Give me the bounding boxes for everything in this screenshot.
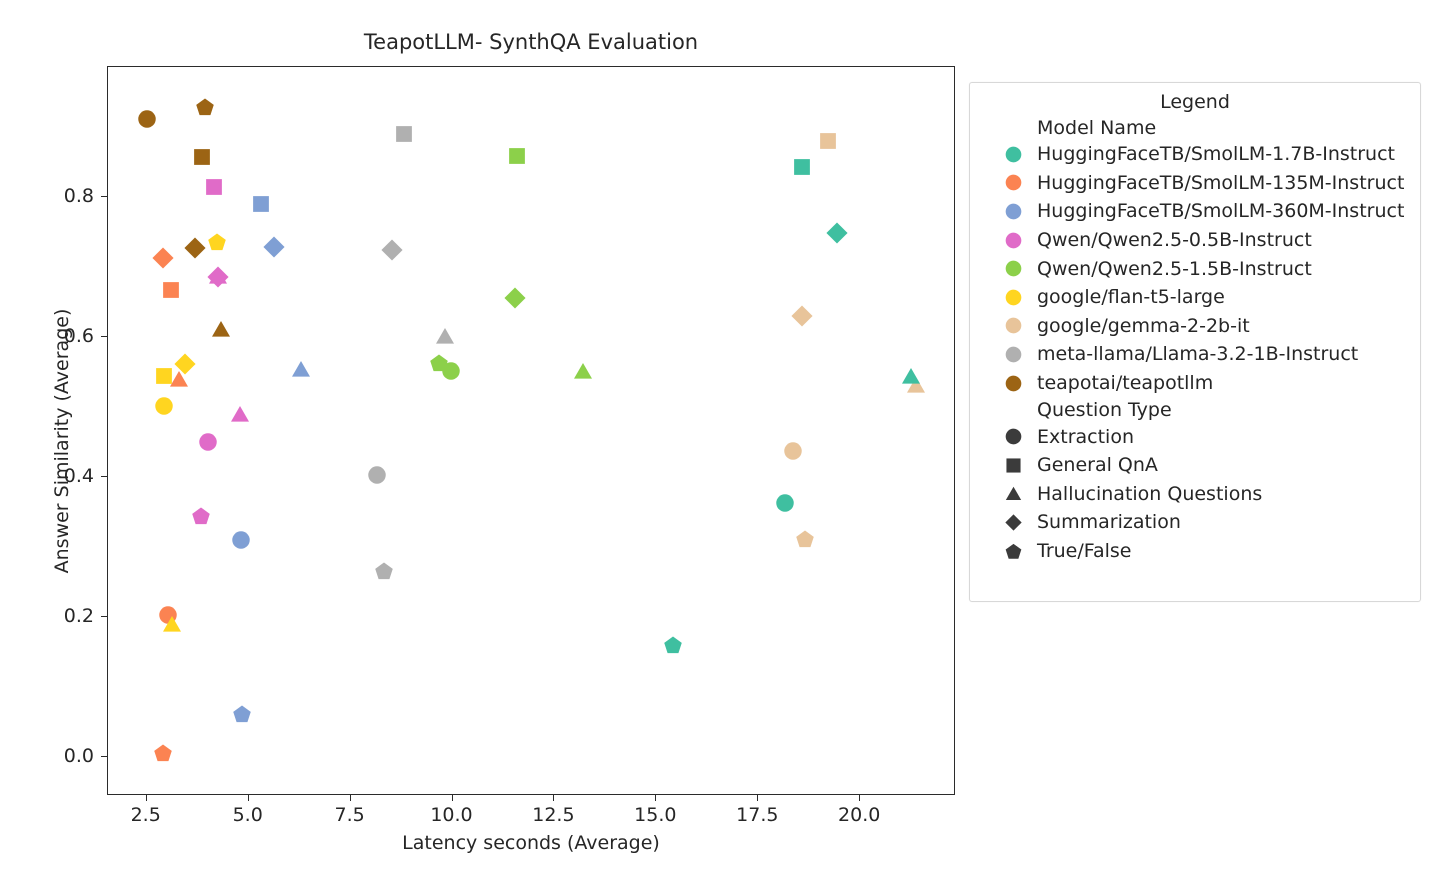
data-point	[573, 361, 593, 381]
legend-marker-diamond-icon	[996, 514, 1030, 531]
x-axis-tick	[553, 795, 554, 801]
legend-item-question-type[interactable]: Hallucination Questions	[970, 480, 1420, 509]
data-point	[193, 147, 212, 166]
legend-item-model[interactable]: teapotai/teapotllm	[970, 369, 1420, 398]
legend-marker-circle-icon	[996, 174, 1030, 191]
x-axis-tick-label: 12.5	[532, 804, 574, 826]
x-axis-tick	[757, 795, 758, 801]
data-point	[162, 280, 181, 299]
x-axis-tick	[452, 795, 453, 801]
legend-item-label: Qwen/Qwen2.5-0.5B-Instruct	[1030, 229, 1312, 251]
y-axis-tick	[101, 756, 107, 757]
legend-item-model[interactable]: HuggingFaceTB/SmolLM-360M-Instruct	[970, 197, 1420, 226]
legend-marker-circle-icon	[996, 428, 1030, 445]
data-point	[162, 614, 182, 634]
legend-marker-circle-icon	[996, 346, 1030, 363]
data-point	[207, 233, 226, 252]
x-axis-tick-label: 5.0	[233, 804, 263, 826]
legend-item-label: HuggingFaceTB/SmolLM-135M-Instruct	[1030, 172, 1404, 194]
data-point	[663, 636, 682, 655]
data-point	[174, 353, 196, 375]
legend-item-label: Qwen/Qwen2.5-1.5B-Instruct	[1030, 258, 1312, 280]
legend-item-label: HuggingFaceTB/SmolLM-360M-Instruct	[1030, 200, 1404, 222]
data-point	[199, 433, 218, 452]
data-point	[184, 237, 206, 259]
x-axis-tick-label: 2.5	[131, 804, 161, 826]
legend-model-list: HuggingFaceTB/SmolLM-1.7B-InstructHuggin…	[970, 140, 1420, 397]
legend-panel: Legend Model Name HuggingFaceTB/SmolLM-1…	[969, 82, 1421, 602]
data-point	[152, 247, 174, 269]
legend-item-label: General QnA	[1030, 454, 1158, 476]
legend-item-model[interactable]: Qwen/Qwen2.5-1.5B-Instruct	[970, 254, 1420, 283]
legend-marker-circle-icon	[996, 289, 1030, 306]
data-point	[263, 236, 285, 258]
legend-title: Legend	[970, 91, 1420, 113]
y-axis-tick	[101, 616, 107, 617]
chart-figure: TeapotLLM- SynthQA Evaluation 2.55.07.51…	[0, 0, 1439, 869]
x-axis-tick	[350, 795, 351, 801]
x-axis-label: Latency seconds (Average)	[107, 832, 955, 854]
y-axis-tick-label: 0.2	[34, 605, 94, 627]
legend-item-label: teapotai/teapotllm	[1030, 372, 1213, 394]
legend-item-question-type[interactable]: General QnA	[970, 451, 1420, 480]
legend-item-label: google/gemma-2-2b-it	[1030, 315, 1250, 337]
data-point	[775, 494, 794, 513]
data-point	[793, 157, 812, 176]
x-axis-tick	[859, 795, 860, 801]
legend-marker-circle-icon	[996, 146, 1030, 163]
data-point	[155, 367, 174, 386]
data-point	[231, 531, 250, 550]
y-axis-tick	[101, 196, 107, 197]
y-axis-label: Answer Similarity (Average)	[51, 276, 73, 606]
legend-item-label: Hallucination Questions	[1030, 483, 1262, 505]
legend-item-label: Extraction	[1030, 426, 1134, 448]
data-point	[368, 466, 387, 485]
legend-question-type-list: ExtractionGeneral QnAHallucination Quest…	[970, 422, 1420, 565]
legend-item-model[interactable]: meta-llama/Llama-3.2-1B-Instruct	[970, 340, 1420, 369]
data-point	[441, 362, 460, 381]
data-point	[826, 222, 848, 244]
data-point	[435, 326, 455, 346]
data-point	[154, 743, 173, 762]
y-axis-tick-label: 0.8	[34, 185, 94, 207]
legend-item-label: True/False	[1030, 540, 1131, 562]
plot-area[interactable]	[107, 66, 955, 795]
data-point	[251, 194, 270, 213]
data-point	[901, 366, 921, 386]
data-point	[291, 359, 311, 379]
legend-item-model[interactable]: google/flan-t5-large	[970, 283, 1420, 312]
legend-marker-circle-icon	[996, 232, 1030, 249]
data-points-layer	[108, 67, 954, 794]
legend-marker-circle-icon	[996, 375, 1030, 392]
x-axis-tick-label: 15.0	[634, 804, 676, 826]
data-point	[381, 239, 403, 261]
data-point	[394, 124, 413, 143]
x-axis-tick-label: 10.0	[430, 804, 472, 826]
data-point	[195, 98, 214, 117]
legend-item-model[interactable]: HuggingFaceTB/SmolLM-135M-Instruct	[970, 169, 1420, 198]
y-axis-tick-label: 0.0	[34, 745, 94, 767]
data-point	[211, 319, 231, 339]
data-point	[232, 705, 251, 724]
legend-item-question-type[interactable]: True/False	[970, 537, 1420, 566]
y-axis-tick	[101, 476, 107, 477]
y-axis-tick	[101, 336, 107, 337]
legend-marker-circle-icon	[996, 203, 1030, 220]
data-point	[137, 109, 156, 128]
data-point	[783, 442, 802, 461]
legend-marker-pentagon-icon	[996, 543, 1030, 560]
legend-group-title-model: Model Name	[970, 117, 1420, 139]
legend-marker-triangle-icon	[996, 485, 1030, 502]
data-point	[208, 266, 228, 286]
legend-item-question-type[interactable]: Summarization	[970, 508, 1420, 537]
legend-item-label: google/flan-t5-large	[1030, 286, 1225, 308]
data-point	[154, 396, 173, 415]
legend-item-model[interactable]: google/gemma-2-2b-it	[970, 312, 1420, 341]
data-point	[205, 177, 224, 196]
legend-item-model[interactable]: Qwen/Qwen2.5-0.5B-Instruct	[970, 226, 1420, 255]
legend-item-question-type[interactable]: Extraction	[970, 422, 1420, 451]
legend-group-title-question-type: Question Type	[970, 399, 1420, 421]
data-point	[791, 305, 813, 327]
legend-marker-circle-icon	[996, 317, 1030, 334]
x-axis-tick-label: 20.0	[838, 804, 880, 826]
x-axis-tick	[146, 795, 147, 801]
legend-item-label: Summarization	[1030, 511, 1181, 533]
data-point	[507, 147, 526, 166]
x-axis-tick	[248, 795, 249, 801]
data-point	[375, 562, 394, 581]
legend-marker-circle-icon	[996, 260, 1030, 277]
legend-item-model[interactable]: HuggingFaceTB/SmolLM-1.7B-Instruct	[970, 140, 1420, 169]
data-point	[818, 131, 837, 150]
chart-title: TeapotLLM- SynthQA Evaluation	[107, 30, 955, 54]
data-point	[796, 529, 815, 548]
legend-item-label: meta-llama/Llama-3.2-1B-Instruct	[1030, 343, 1358, 365]
data-point	[230, 404, 250, 424]
legend-item-label: HuggingFaceTB/SmolLM-1.7B-Instruct	[1030, 143, 1395, 165]
data-point	[504, 287, 526, 309]
x-axis-tick-label: 7.5	[334, 804, 364, 826]
legend-marker-square-icon	[996, 457, 1030, 474]
data-point	[191, 507, 210, 526]
x-axis-tick-label: 17.5	[736, 804, 778, 826]
x-axis-tick	[655, 795, 656, 801]
